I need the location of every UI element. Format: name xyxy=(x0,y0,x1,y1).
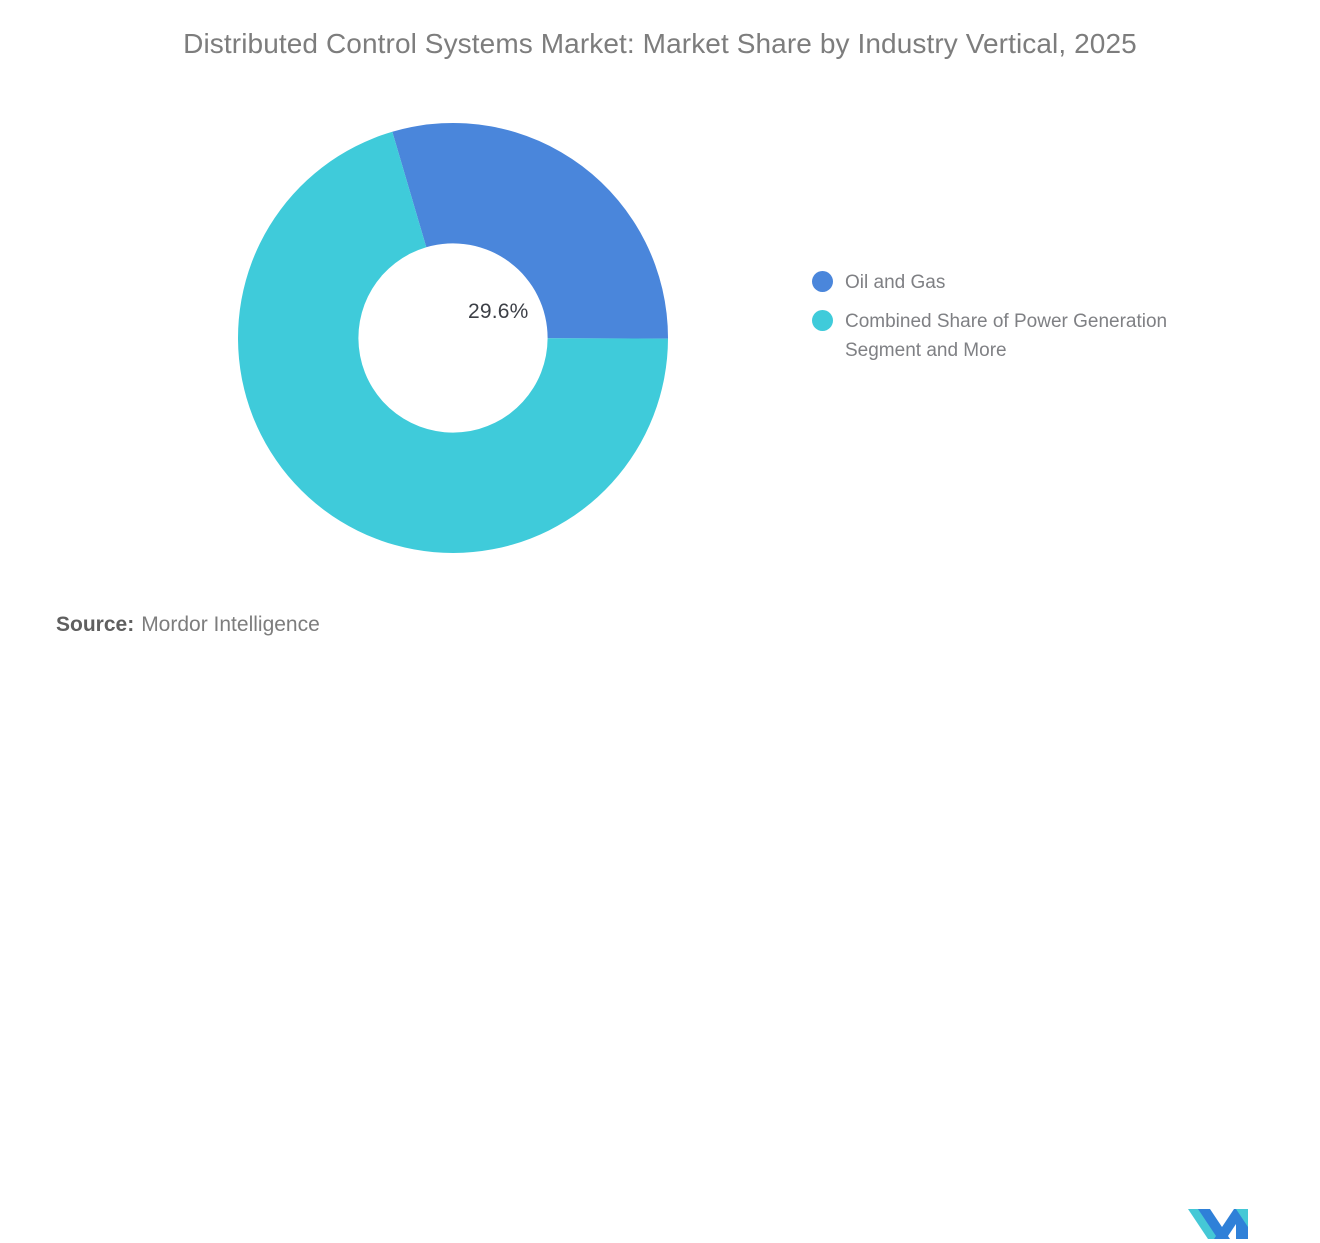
chart-footer: Source:Mordor Intelligence xyxy=(0,605,1320,665)
legend-item-oil-and-gas[interactable]: Oil and Gas xyxy=(812,268,1272,297)
legend-label-combined-share: Combined Share of Power Generation Segme… xyxy=(845,307,1235,365)
donut-chart xyxy=(0,95,760,585)
mordor-intelligence-logo-icon xyxy=(1186,1205,1256,1243)
chart-legend: Oil and Gas Combined Share of Power Gene… xyxy=(812,268,1272,375)
legend-swatch-icon-combined-share xyxy=(812,310,833,331)
legend-item-combined-share[interactable]: Combined Share of Power Generation Segme… xyxy=(812,307,1272,365)
legend-swatch-icon-oil-and-gas xyxy=(812,271,833,292)
donut-slices xyxy=(238,123,668,553)
chart-plot-area: 29.6% xyxy=(0,95,760,585)
donut-slice-oil-and-gas[interactable] xyxy=(392,123,668,339)
legend-label-oil-and-gas: Oil and Gas xyxy=(845,268,945,297)
source-attribution: Source:Mordor Intelligence xyxy=(56,613,320,637)
page-title: Distributed Control Systems Market: Mark… xyxy=(0,26,1320,62)
source-label: Source: xyxy=(56,613,134,636)
slice-data-label-oil-and-gas: 29.6% xyxy=(468,300,529,324)
source-value: Mordor Intelligence xyxy=(141,613,320,636)
